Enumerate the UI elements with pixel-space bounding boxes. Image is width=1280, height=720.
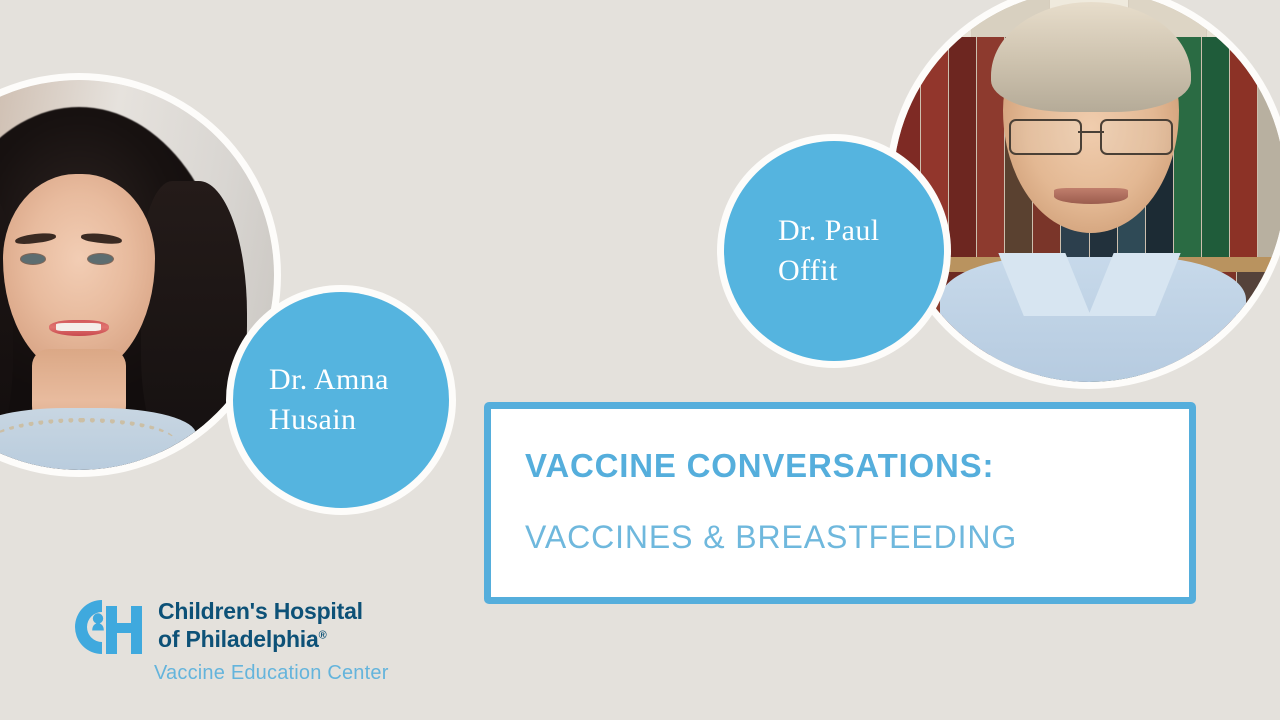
logo-line-1: Children's Hospital: [158, 598, 363, 626]
speaker-name-amna-husain: Dr. Amna Husain: [269, 360, 389, 439]
chop-wordmark: Children's Hospital of Philadelphia®: [158, 598, 363, 653]
portrait-image-offit: [893, 0, 1280, 382]
title-secondary: VACCINES & BREASTFEEDING: [525, 519, 1189, 556]
portrait-dr-paul-offit: [893, 0, 1280, 382]
title-primary: VACCINE CONVERSATIONS:: [525, 447, 1189, 485]
eyeglasses-icon: [1009, 119, 1174, 150]
teeth-shape: [56, 323, 101, 330]
lens-right: [1100, 119, 1173, 154]
chop-logo: Children's Hospital of Philadelphia® Vac…: [70, 596, 410, 692]
chop-c-h-child-silhouette-logo: [70, 596, 148, 658]
eye-left: [21, 254, 46, 264]
video-title-slide: Dr. Amna Husain Dr. Paul Offit VACCINE C…: [0, 0, 1280, 720]
lens-left: [1009, 119, 1082, 154]
title-card: VACCINE CONVERSATIONS: VACCINES & BREAST…: [484, 402, 1196, 604]
logo-line-2: of Philadelphia®: [158, 626, 363, 654]
speaker-name-bubble-paul-offit: Dr. Paul Offit: [724, 141, 944, 361]
vaccine-education-center-label: Vaccine Education Center: [154, 662, 389, 685]
speaker-name-paul-offit: Dr. Paul Offit: [778, 211, 880, 290]
logo-line-2-text: of Philadelphia: [158, 626, 319, 652]
shirt-shape: [940, 257, 1246, 382]
glasses-bridge: [1078, 131, 1104, 134]
registered-trademark-icon: ®: [319, 629, 327, 641]
speaker-name-bubble-amna-husain: Dr. Amna Husain: [233, 292, 449, 508]
eye-right: [88, 254, 113, 264]
mouth-shape: [1054, 188, 1128, 204]
